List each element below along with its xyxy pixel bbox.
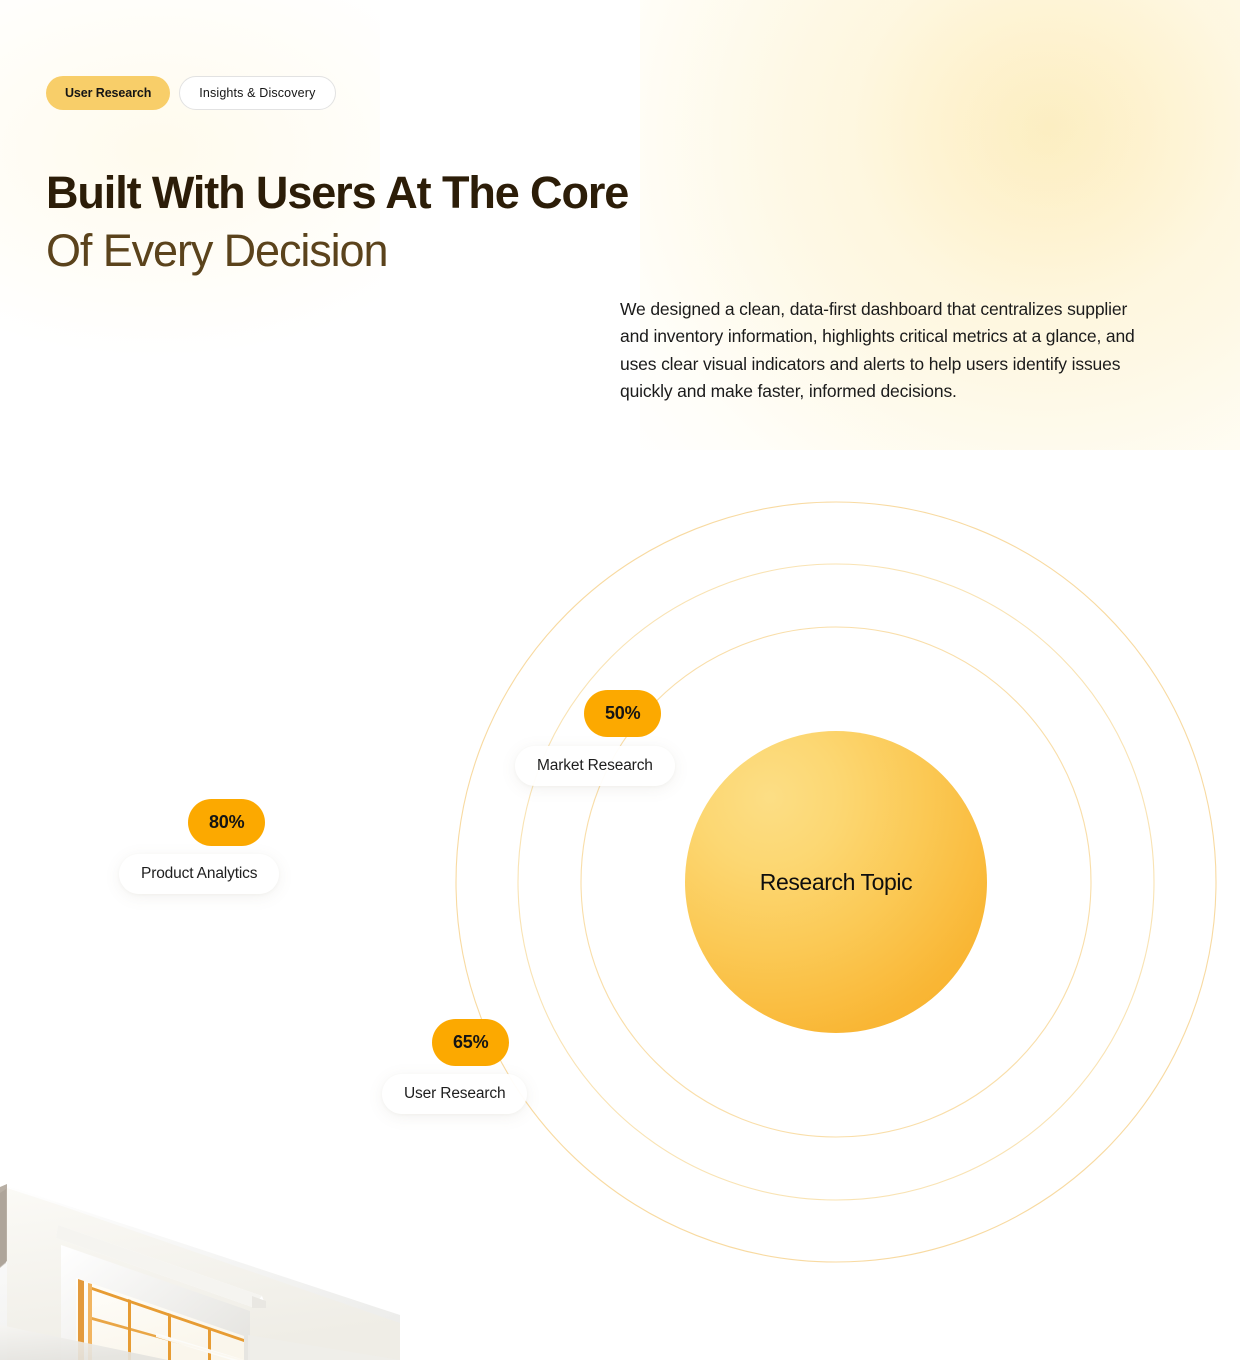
- node-user-research-value[interactable]: 65%: [432, 1019, 509, 1066]
- page-title: Built With Users At The Core Of Every De…: [46, 163, 628, 280]
- tab-insights-discovery-label: Insights & Discovery: [199, 86, 315, 100]
- description-paragraph: We designed a clean, data-first dashboar…: [620, 296, 1145, 406]
- tab-bar: User Research Insights & Discovery: [46, 76, 336, 110]
- architectural-render-image: [0, 1175, 400, 1360]
- tab-insights-discovery[interactable]: Insights & Discovery: [179, 76, 335, 110]
- headline-line-2: Of Every Decision: [46, 222, 628, 280]
- node-user-research-label[interactable]: User Research: [382, 1074, 527, 1114]
- node-product-analytics-label[interactable]: Product Analytics: [119, 854, 279, 894]
- core-node-label: Research Topic: [760, 869, 913, 896]
- core-node[interactable]: Research Topic: [685, 731, 987, 1033]
- tab-user-research-label: User Research: [65, 86, 151, 100]
- node-market-research-value[interactable]: 50%: [584, 690, 661, 737]
- node-product-analytics-value[interactable]: 80%: [188, 799, 265, 846]
- headline-line-1: Built With Users At The Core: [46, 163, 628, 222]
- node-market-research-label[interactable]: Market Research: [515, 746, 675, 786]
- tab-user-research[interactable]: User Research: [46, 76, 170, 110]
